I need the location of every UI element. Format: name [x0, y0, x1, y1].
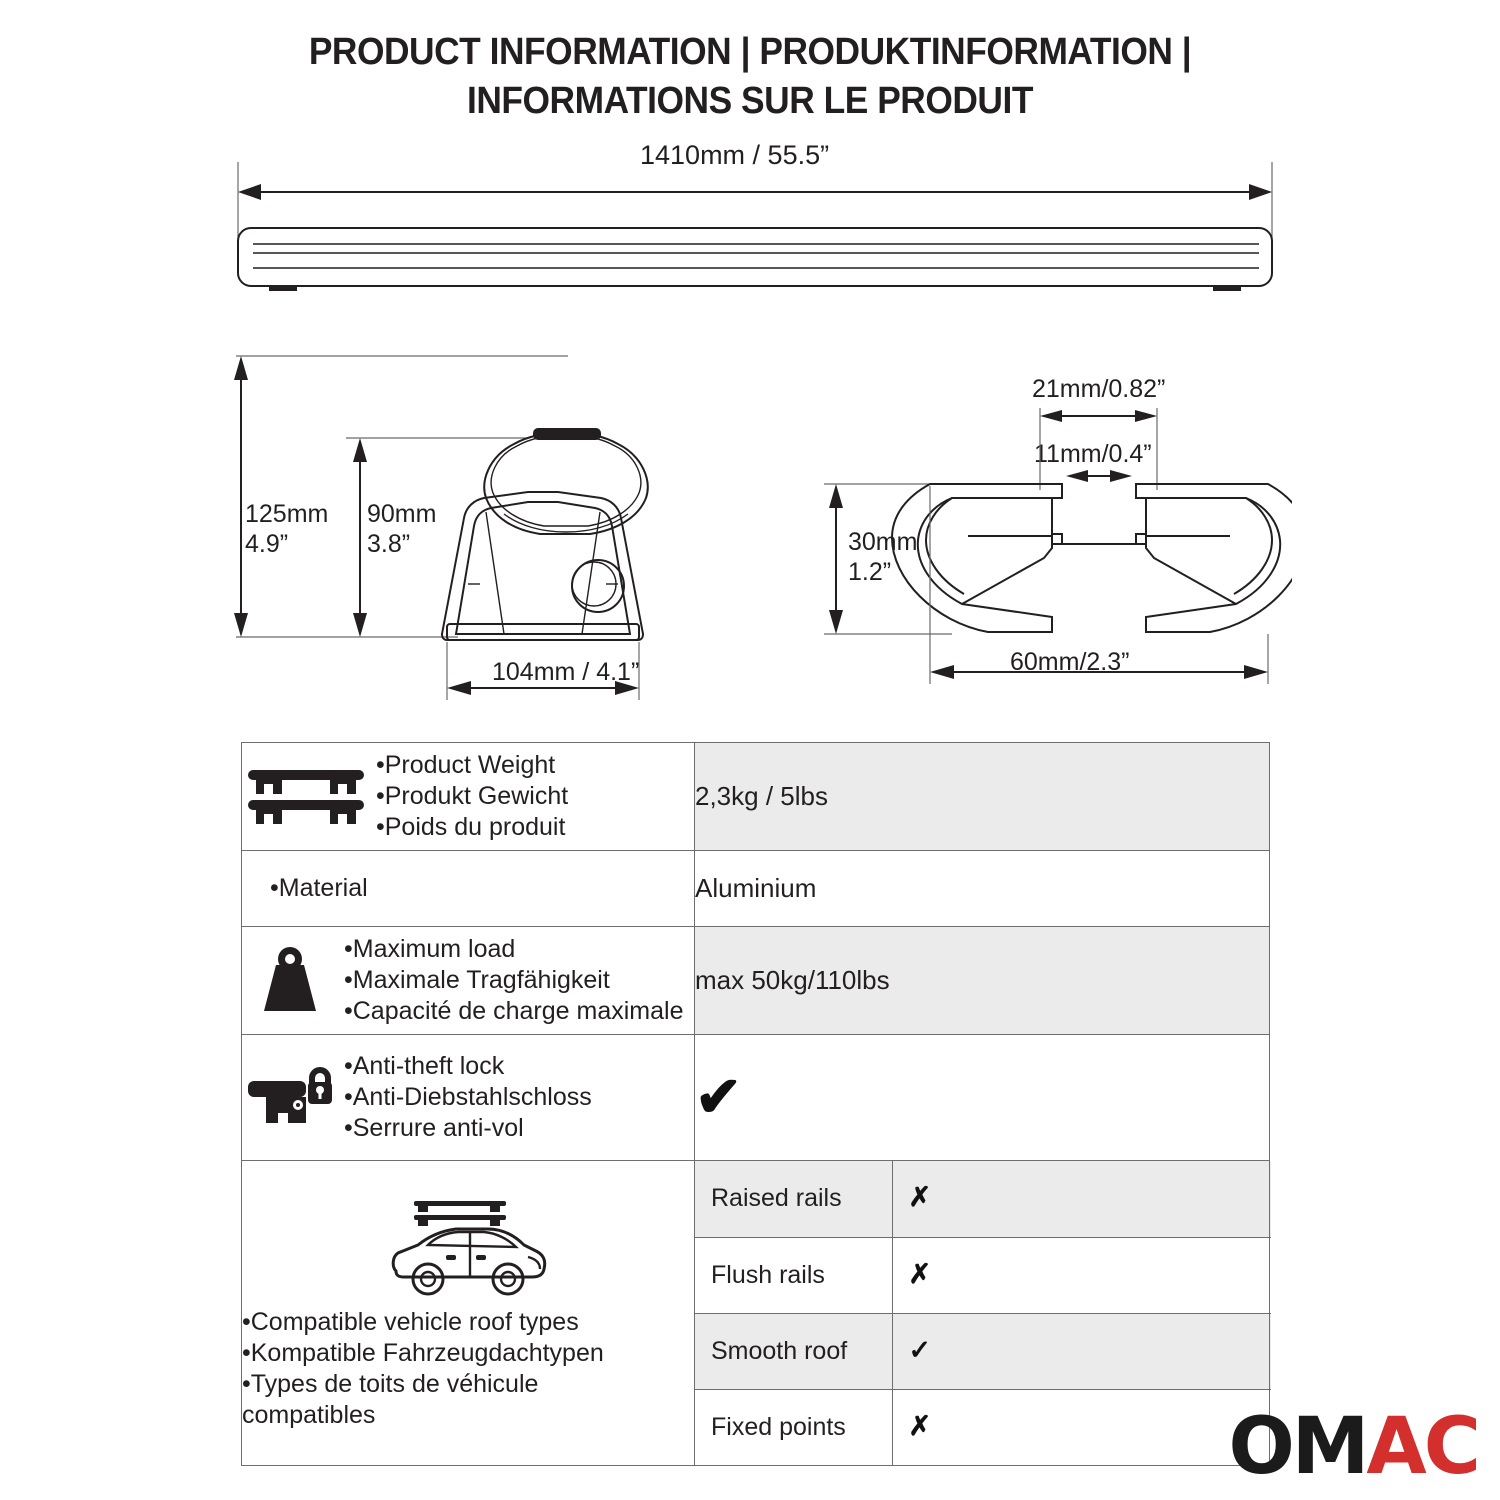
weight-icon [242, 945, 338, 1017]
roof-type-row: Smooth roof ✓ [695, 1313, 1271, 1389]
checkmark-icon: ✔ [695, 1065, 742, 1128]
roof-types-subtable-host: Raised rails ✗ Flush rails ✗ Smooth roof… [695, 1161, 1270, 1466]
spec-label-text-roof-types: •Compatible vehicle roof types •Kompatib… [242, 1307, 662, 1431]
roof-type-name: Flush rails [695, 1237, 892, 1313]
roof-types-table: Raised rails ✗ Flush rails ✗ Smooth roof… [695, 1161, 1271, 1465]
spec-label-cell-weight: •Product Weight •Produkt Gewicht •Poids … [242, 743, 695, 851]
lock-icon [242, 1063, 338, 1133]
cross-icon: ✗ [909, 1182, 932, 1212]
cross-icon: ✗ [909, 1411, 932, 1441]
spec-label-cell-anti-theft: •Anti-theft lock •Anti-Diebstahlschloss … [242, 1035, 695, 1161]
crossbar-cross-section-drawing [812, 372, 1292, 702]
roof-type-row: Fixed points ✗ [695, 1389, 1271, 1465]
table-row: •Product Weight •Produkt Gewicht •Poids … [242, 743, 1270, 851]
foot-front-view-drawing [228, 352, 708, 712]
roof-type-value: ✗ [892, 1161, 1271, 1237]
spec-label-cell-material: •Material [242, 851, 695, 927]
spec-value-weight: 2,3kg / 5lbs [695, 743, 1270, 851]
spec-value-material: Aluminium [695, 851, 1270, 927]
omac-logo: OMAC [1228, 1408, 1478, 1486]
title-line-2: INFORMATIONS SUR LE PRODUIT [53, 77, 1448, 126]
roof-bars-icon [242, 766, 370, 828]
spec-label-cell-max-load: •Maximum load •Maximale Tragfähigkeit •C… [242, 927, 695, 1035]
page-title: PRODUCT INFORMATION | PRODUKTINFORMATION… [0, 28, 1500, 125]
roof-type-name: Raised rails [695, 1161, 892, 1237]
roof-type-value: ✗ [892, 1237, 1271, 1313]
roof-type-row: Flush rails ✗ [695, 1237, 1271, 1313]
product-information-sheet: PRODUCT INFORMATION | PRODUKTINFORMATION… [0, 0, 1500, 1500]
table-row: •Maximum load •Maximale Tragfähigkeit •C… [242, 927, 1270, 1035]
roof-type-value: ✗ [892, 1389, 1271, 1465]
table-row: •Anti-theft lock •Anti-Diebstahlschloss … [242, 1035, 1270, 1161]
spec-value-anti-theft: ✔ [695, 1035, 1270, 1161]
table-row: •Material Aluminium [242, 851, 1270, 927]
logo-text-red: AC [1366, 1402, 1478, 1492]
product-spec-table: •Product Weight •Produkt Gewicht •Poids … [241, 742, 1270, 1466]
spec-label-text-max-load: •Maximum load •Maximale Tragfähigkeit •C… [344, 934, 683, 1027]
car-with-roof-bars-icon [384, 1195, 552, 1303]
spec-label-cell-roof-types: •Compatible vehicle roof types •Kompatib… [242, 1161, 695, 1466]
spec-label-text-material: •Material [242, 873, 368, 904]
table-row: •Compatible vehicle roof types •Kompatib… [242, 1161, 1270, 1466]
roof-type-row: Raised rails ✗ [695, 1161, 1271, 1237]
logo-text-dark: OM [1228, 1402, 1366, 1492]
spec-label-text-anti-theft: •Anti-theft lock •Anti-Diebstahlschloss … [344, 1051, 592, 1144]
spec-label-text-weight: •Product Weight •Produkt Gewicht •Poids … [376, 750, 568, 843]
cross-icon: ✗ [909, 1259, 932, 1289]
roof-type-name: Smooth roof [695, 1313, 892, 1389]
crossbar-top-view-drawing [225, 160, 1285, 310]
roof-type-value: ✓ [892, 1313, 1271, 1389]
title-line-1: PRODUCT INFORMATION | PRODUKTINFORMATION… [53, 28, 1448, 77]
roof-type-name: Fixed points [695, 1389, 892, 1465]
check-icon: ✓ [909, 1335, 932, 1365]
spec-value-max-load: max 50kg/110lbs [695, 927, 1270, 1035]
